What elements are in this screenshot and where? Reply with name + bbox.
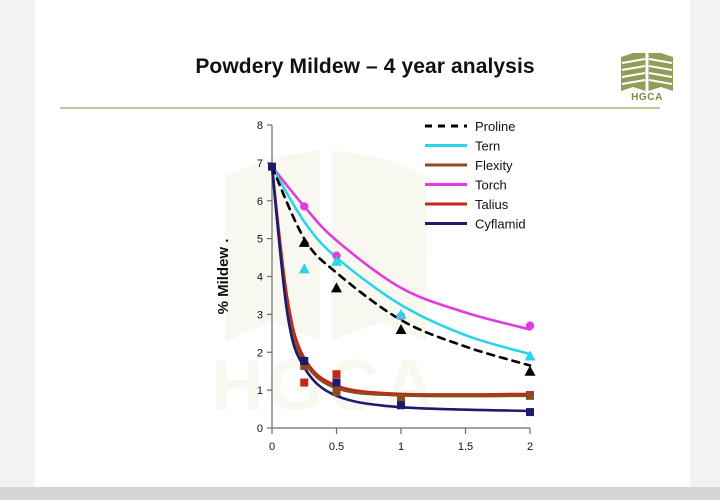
data-point-marker (525, 366, 536, 376)
bottom-bar (0, 487, 720, 500)
chart-legend: ProlineTernFlexityTorchTaliusCyflamid (425, 119, 526, 232)
data-point-marker (526, 408, 534, 416)
data-point-marker (333, 388, 341, 396)
svg-text:HGCA: HGCA (211, 346, 439, 426)
logo-wordmark: HGCA (613, 92, 681, 103)
x-tick-label: 1 (398, 441, 404, 450)
slide-canvas: Powdery Mildew – 4 year analysis HGCA HG… (35, 0, 690, 487)
y-tick-label: 0 (257, 423, 263, 435)
x-tick-label: 2 (527, 441, 533, 450)
y-axis-label: % Mildew . (215, 239, 232, 315)
x-tick-label: 0 (269, 441, 275, 450)
chart-plot-area: HGCA01234567800.511.52% Mildew .ProlineT… (70, 110, 690, 450)
title-divider (60, 107, 660, 109)
y-tick-label: 3 (257, 309, 263, 321)
legend-label-proline: Proline (475, 119, 515, 134)
y-tick-label: 5 (257, 234, 263, 246)
y-tick-label: 6 (257, 196, 263, 208)
background-watermark: HGCA (211, 150, 439, 426)
legend-label-torch: Torch (475, 178, 507, 193)
page-title: Powdery Mildew – 4 year analysis (155, 55, 575, 79)
data-point-marker (397, 401, 405, 409)
data-point-marker (300, 357, 308, 365)
y-tick-label: 7 (257, 158, 263, 170)
right-gutter (690, 0, 720, 487)
data-point-marker (300, 202, 308, 210)
legend-label-flexity: Flexity (475, 158, 513, 173)
legend-label-cyflamid: Cyflamid (475, 217, 526, 232)
x-tick-label: 0.5 (329, 441, 344, 450)
x-tick-label: 1.5 (458, 441, 473, 450)
data-point-marker (333, 379, 341, 387)
y-tick-label: 1 (257, 385, 263, 397)
data-point-marker (333, 370, 341, 378)
y-tick-label: 2 (257, 347, 263, 359)
data-point-marker (526, 392, 534, 400)
legend-label-tern: Tern (475, 139, 500, 154)
y-tick-label: 8 (257, 120, 263, 132)
legend-label-talius: Talius (475, 197, 509, 212)
data-point-marker (268, 163, 276, 171)
data-point-marker (526, 322, 534, 330)
y-tick-label: 4 (257, 272, 263, 284)
data-point-marker (397, 394, 405, 402)
mildew-chart: HGCA01234567800.511.52% Mildew .ProlineT… (70, 110, 690, 450)
data-point-marker (300, 379, 308, 387)
